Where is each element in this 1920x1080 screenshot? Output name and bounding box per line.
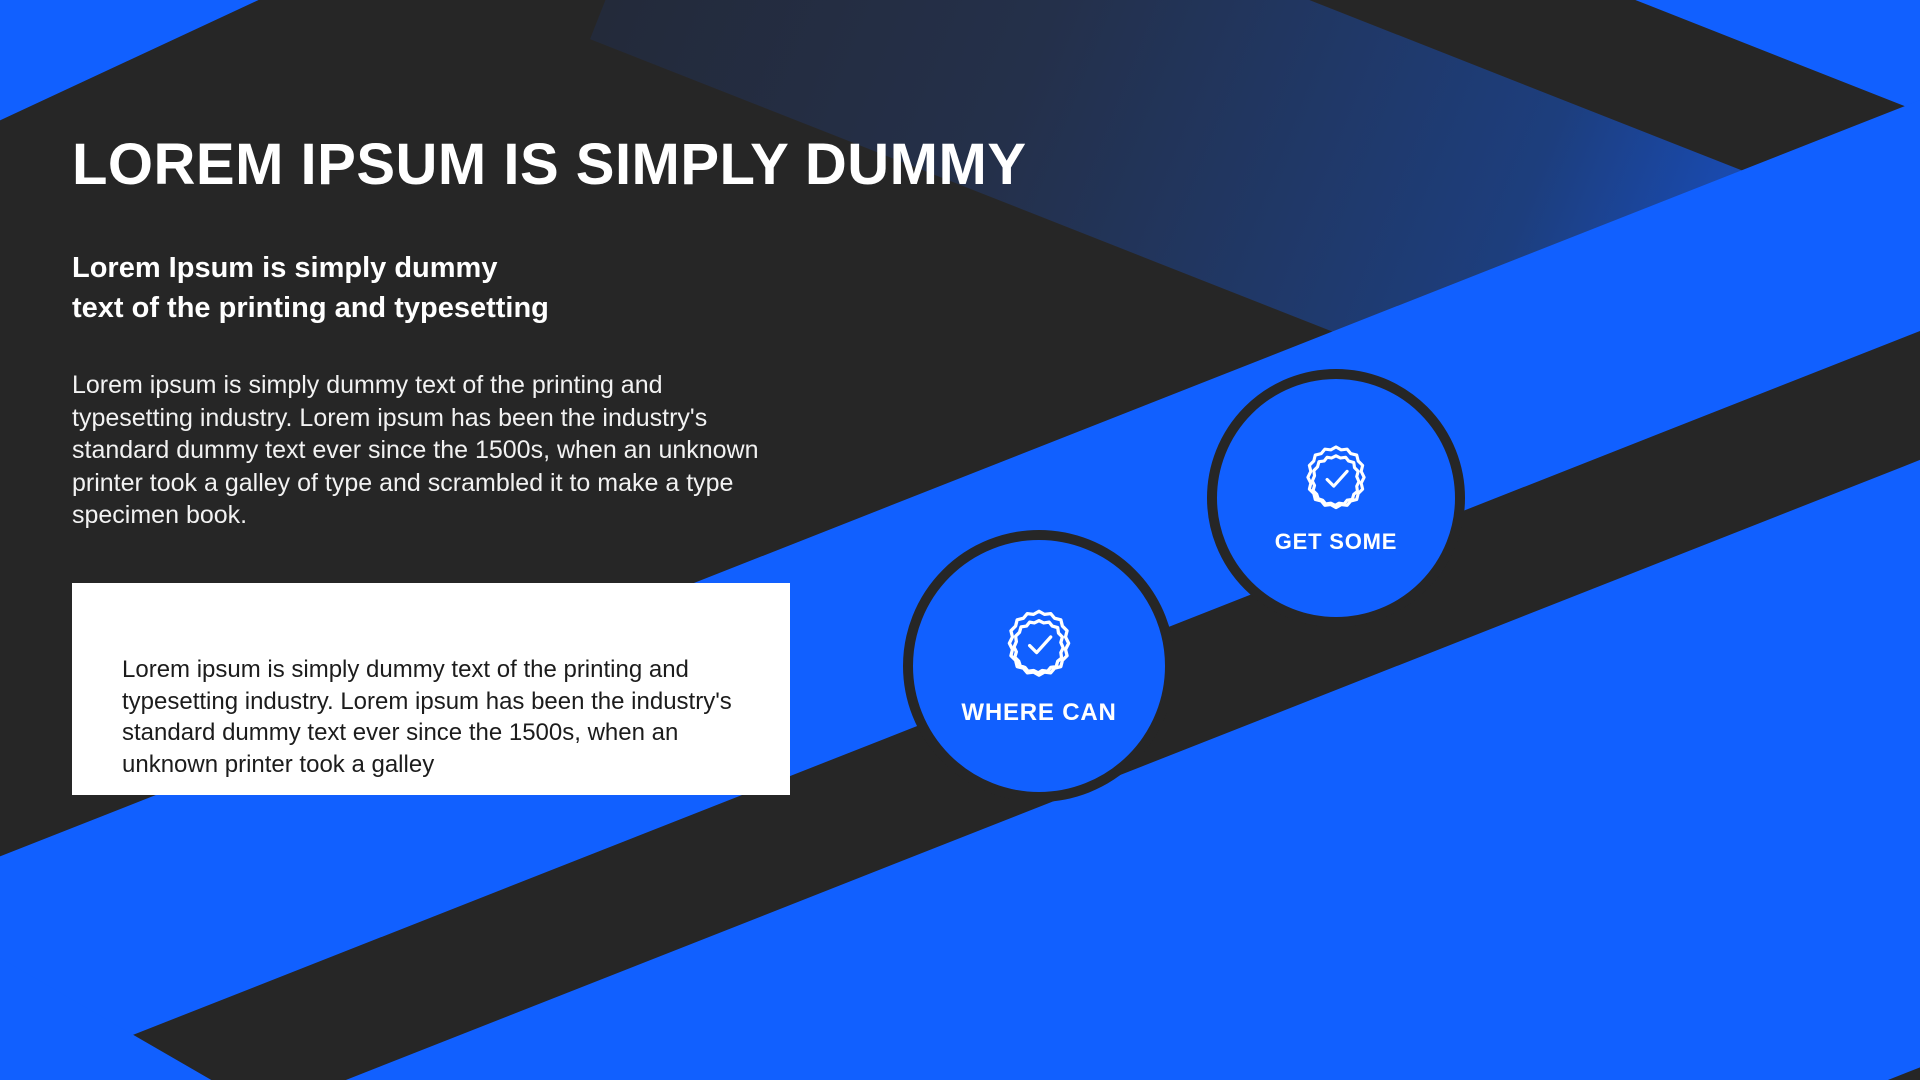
page-title: LOREM IPSUM IS SIMPLY DUMMY — [72, 135, 1027, 196]
verified-check-icon — [1000, 605, 1078, 683]
subtitle: Lorem Ipsum is simply dummy text of the … — [72, 248, 712, 328]
verified-check-icon — [1299, 441, 1373, 515]
badge-label: WHERE CAN — [961, 699, 1116, 727]
subtitle-line-2: text of the printing and typesetting — [72, 288, 712, 328]
callout-card: Lorem ipsum is simply dummy text of the … — [72, 583, 790, 795]
badge-where-can[interactable]: WHERE CAN — [903, 530, 1175, 802]
callout-text: Lorem ipsum is simply dummy text of the … — [122, 654, 762, 781]
upper-blue-sliver — [916, 0, 1920, 230]
bottom-left-blue-wedge — [0, 955, 225, 1080]
body-paragraph: Lorem ipsum is simply dummy text of the … — [72, 369, 772, 532]
top-left-blue-wedge — [0, 0, 290, 130]
badge-get-some[interactable]: GET SOME — [1207, 369, 1465, 627]
subtitle-line-1: Lorem Ipsum is simply dummy — [72, 248, 712, 288]
badge-label: GET SOME — [1275, 529, 1398, 555]
slide-canvas: LOREM IPSUM IS SIMPLY DUMMY Lorem Ipsum … — [0, 0, 1920, 1080]
